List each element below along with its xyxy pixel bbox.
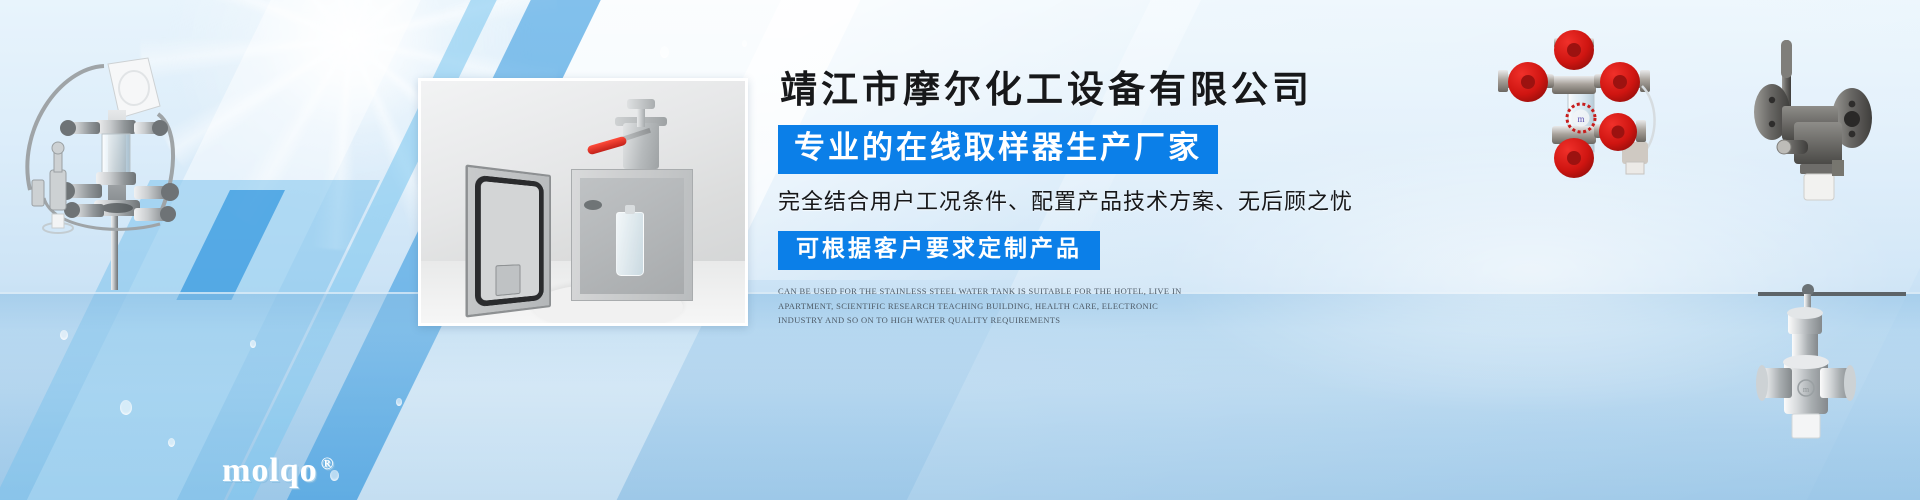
cabinet-port-icon xyxy=(584,200,602,210)
headline-badge: 专业的在线取样器生产厂家 xyxy=(778,125,1218,174)
sampling-valve-head xyxy=(609,103,675,177)
water-drop-icon xyxy=(396,398,402,406)
product-photo-frame xyxy=(418,78,748,326)
brand-watermark: molqo® xyxy=(222,452,334,490)
water-drop-icon xyxy=(250,340,256,348)
product-image-valve-manifold: m xyxy=(1490,30,1690,180)
water-drop-icon xyxy=(168,438,175,447)
valve-red-lever xyxy=(587,136,628,156)
cabinet-door xyxy=(465,164,551,317)
watermark-text: molqo xyxy=(222,452,318,489)
water-drop-icon xyxy=(660,46,669,58)
product-image-pole-mounted-sampler xyxy=(8,22,198,292)
registered-mark-icon: ® xyxy=(321,454,335,473)
product-photo-sampler-cabinet xyxy=(421,81,745,323)
water-drop-icon xyxy=(60,330,68,340)
valve-cap xyxy=(627,99,655,109)
sampler-cabinet xyxy=(571,169,693,301)
water-drop-icon xyxy=(120,400,132,415)
product-image-inline-lever-valve: m xyxy=(1756,272,1920,457)
english-description: CAN BE USED FOR THE STAINLESS STEEL WATE… xyxy=(778,284,1183,328)
door-latch xyxy=(495,264,520,296)
water-drop-icon xyxy=(742,40,747,47)
svg-text:m: m xyxy=(1803,385,1810,394)
promo-banner: 靖江市摩尔化工设备有限公司 专业的在线取样器生产厂家 完全结合用户工况条件、配置… xyxy=(0,0,1920,500)
svg-text:m: m xyxy=(1577,114,1584,124)
custom-product-badge: 可根据客户要求定制产品 xyxy=(778,231,1100,270)
sample-bottle xyxy=(616,212,644,276)
subline-text: 完全结合用户工况条件、配置产品技术方案、无后顾之忧 xyxy=(778,191,1398,215)
company-name: 靖江市摩尔化工设备有限公司 xyxy=(780,72,1398,109)
product-image-flanged-lever-valve xyxy=(1752,22,1920,222)
banner-text-block: 靖江市摩尔化工设备有限公司 专业的在线取样器生产厂家 完全结合用户工况条件、配置… xyxy=(778,72,1398,328)
